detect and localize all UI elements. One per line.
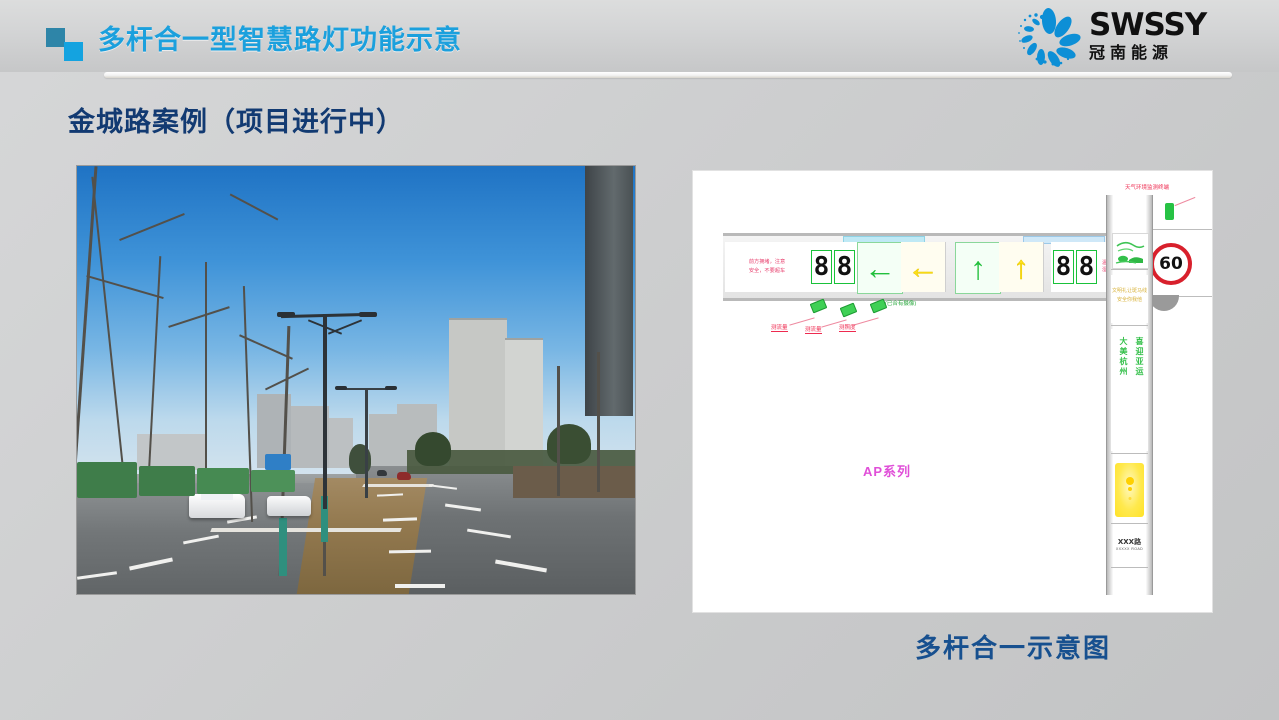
countdown-display-left: 8 8 (809, 242, 858, 292)
photo-curb (210, 528, 402, 532)
photo-streetlight-pole (323, 314, 327, 509)
photo-building (369, 414, 397, 466)
pole-safety-line-2: 安全你我他 (1111, 296, 1148, 305)
photo-streetlight-pole (365, 388, 368, 498)
decor-square-dark-icon (46, 28, 65, 47)
lane-arrow-left-yellow: ← (901, 242, 946, 292)
photo-truck-green (139, 466, 195, 496)
page-title: 多杆合一型智慧路灯功能示意 (98, 18, 462, 57)
decor-square-light-icon (64, 42, 83, 61)
lane-arrow-left-green: ← (857, 242, 903, 294)
pole-vertical-text-left: 大美杭州 (1117, 337, 1129, 377)
sensor-note: (已合有摄像) (885, 299, 916, 307)
lane-arrow-up-green: ↑ (955, 242, 1001, 294)
photo-building (449, 318, 507, 468)
digit-left-tens: 8 (811, 250, 832, 284)
green-landscape-icon (1113, 234, 1148, 268)
arrow-up-green-icon: ↑ (958, 246, 998, 290)
traffic-sensor-icon-2 (840, 303, 858, 318)
photo-lane-marking (395, 584, 445, 588)
photo-hedge (513, 466, 636, 498)
diagram-caption: 多杆合一示意图 (915, 628, 1111, 665)
arrow-left-green-icon: ← (860, 246, 900, 290)
digit-left-ones: 8 (834, 250, 855, 284)
photo-building (505, 338, 543, 468)
photo-truck-green (251, 470, 295, 492)
digit-right-ones: 8 (1076, 250, 1097, 284)
header-divider (104, 72, 1232, 78)
photo-high-rise-tower (585, 166, 633, 416)
digit-right-tens: 8 (1053, 250, 1074, 284)
street-photo (76, 165, 636, 595)
road-name-subtext: XXXXX ROAD (1113, 547, 1146, 551)
vms-line-1: 前方拥堵，注意 (749, 259, 785, 266)
photo-tree-guard (279, 518, 287, 576)
gantry-arm: 前方拥堵，注意 安全，不要超车 8 8 ← ← ↑ ↑ 8 8 温度：25℃ P… (723, 233, 1153, 301)
road-name-plate: XXX路 XXXXX ROAD (1113, 537, 1146, 551)
weather-sensor-label: 天气环境监测终端 (1125, 183, 1169, 191)
photo-road-sign (265, 454, 291, 470)
pole-schematic-diagram: 前方拥堵，注意 安全，不要超车 8 8 ← ← ↑ ↑ 8 8 温度：25℃ P… (692, 170, 1213, 613)
smart-pole: 公益广告 文明礼让斑马线 安全你我他 喜迎亚运 大美杭州 (1106, 195, 1153, 595)
photo-truck-green (77, 462, 137, 498)
pole-banner-panel: 喜迎亚运 大美杭州 (1111, 329, 1148, 451)
variable-message-board: 前方拥堵，注意 安全，不要超车 (725, 242, 810, 292)
sensor-label-2: 测流量 (805, 325, 822, 334)
road-name-text: XXX路 (1113, 537, 1146, 547)
speed-limit-sign: 60 (1150, 243, 1192, 285)
photo-streetlight-lamp (335, 386, 347, 390)
pole-safety-panel: 文明礼让斑马线 安全你我他 (1111, 275, 1148, 323)
arrow-left-yellow-icon: ← (903, 245, 943, 289)
weather-sensor-icon (1165, 203, 1174, 220)
sensor-label-3: 测照度 (839, 323, 856, 332)
pole-vertical-text-right: 喜迎亚运 (1133, 337, 1145, 377)
countdown-display-right: 8 8 (1051, 242, 1100, 292)
vms-line-2: 安全，不要超车 (749, 268, 785, 275)
photo-car-red (397, 472, 411, 480)
ap-series-label: AP系列 (863, 461, 911, 480)
company-logo: SWSSY 冠南能源 (1011, 5, 1261, 71)
photo-truck-green (197, 468, 249, 494)
lane-arrow-up-yellow: ↑ (999, 242, 1044, 292)
photo-shrub (415, 432, 451, 466)
logo-chinese-text: 冠南能源 (1089, 44, 1261, 64)
arrow-up-yellow-icon: ↑ (1001, 245, 1041, 289)
callout-leader-weather (1175, 197, 1196, 206)
photo-car-white (267, 496, 311, 516)
photo-curb (362, 484, 434, 487)
callout-leader-3 (853, 317, 878, 325)
photo-tree-trunk (557, 366, 560, 496)
logo-latin-text: SWSSY (1089, 8, 1261, 42)
logo-wordmark: SWSSY 冠南能源 (1089, 8, 1261, 64)
section-subtitle: 金城路案例（项目进行中） (68, 100, 404, 139)
pole-light-panel (1115, 463, 1144, 517)
pole-safety-line-1: 文明礼让斑马线 (1111, 287, 1148, 296)
photo-streetlight-lamp (277, 312, 295, 317)
photo-streetlight-lamp (359, 312, 377, 317)
sensor-label-1: 测流量 (771, 323, 788, 332)
photo-shrub (547, 424, 591, 464)
photo-car-dark (377, 470, 387, 476)
photo-median-strip (297, 478, 427, 594)
photo-streetlight-lamp (385, 386, 397, 390)
pole-psa-panel (1112, 233, 1149, 269)
page-header: 多杆合一型智慧路灯功能示意 (0, 0, 1279, 78)
photo-tree-trunk (597, 352, 600, 492)
dome-camera-icon (1149, 295, 1179, 311)
water-droplet-flower-icon (1011, 7, 1085, 69)
